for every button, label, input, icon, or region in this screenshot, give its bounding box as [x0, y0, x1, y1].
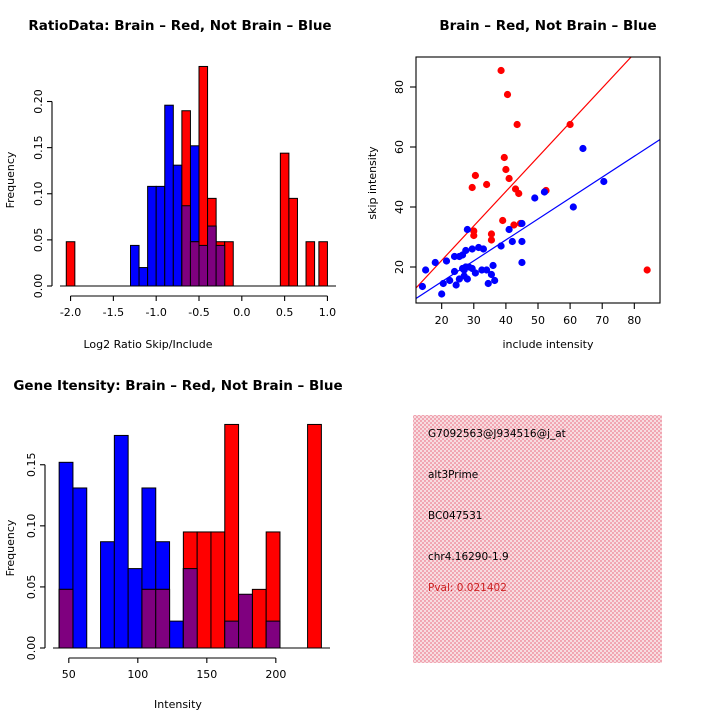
gene-xtick-label: 200 [265, 668, 286, 681]
ratio-bar-blue [165, 105, 174, 286]
gene-bar-overlap [239, 594, 253, 648]
scatter-point [567, 121, 574, 128]
info-line-locus: chr4.16290-1.9 [428, 551, 509, 563]
info-line-probe: G7092563@J934516@j_at [428, 428, 566, 440]
gene-bar-overlap [183, 569, 197, 648]
ratio-bar-red [319, 242, 328, 286]
intensity-scatter-panel: Brain – Red, Not Brain – Blue 2030405060… [360, 0, 720, 360]
info-line-event-type: alt3Prime [428, 469, 478, 481]
scatter-point [440, 280, 447, 287]
scatter-point [469, 184, 476, 191]
intensity-scatter-ylabel: skip intensity [366, 146, 379, 220]
scatter-point [419, 283, 426, 290]
scatter-xtick-label: 50 [531, 314, 545, 327]
scatter-point [485, 280, 492, 287]
scatter-point [497, 242, 504, 249]
scatter-xtick-label: 40 [499, 314, 513, 327]
scatter-point [514, 121, 521, 128]
ratio-histogram-title: RatioData: Brain – Red, Not Brain – Blue [28, 18, 331, 34]
gene-bar-blue [114, 435, 128, 648]
scatter-point [443, 257, 450, 264]
gene-ytick-label: 0.05 [25, 575, 38, 600]
scatter-point [489, 262, 496, 269]
scatter-ytick-label: 60 [393, 140, 406, 154]
gene-intensity-svg: Gene Itensity: Brain – Red, Not Brain – … [0, 360, 360, 720]
info-panel-background [413, 415, 662, 663]
scatter-point [579, 145, 586, 152]
scatter-point [438, 290, 445, 297]
scatter-point [464, 275, 471, 282]
scatter-box [416, 57, 660, 303]
scatter-point [504, 91, 511, 98]
ratio-ytick-label: 0.00 [32, 274, 45, 299]
ratio-ytick-label: 0.15 [32, 135, 45, 160]
gene-ytick-label: 0.10 [25, 514, 38, 539]
scatter-point [491, 277, 498, 284]
ratio-bar-blue [148, 186, 157, 286]
gene-intensity-panel: Gene Itensity: Brain – Red, Not Brain – … [0, 360, 360, 720]
ratio-bar-overlap [182, 206, 191, 286]
gene-intensity-bars [59, 424, 321, 648]
ratio-ytick-label: 0.05 [32, 228, 45, 253]
scatter-xtick-label: 20 [435, 314, 449, 327]
ratio-xtick-label: -1.5 [103, 306, 124, 319]
gene-intensity-xlabel: Intensity [154, 698, 202, 711]
scatter-point [453, 281, 460, 288]
ratio-xtick-label: 0.5 [276, 306, 294, 319]
gene-bar-overlap [156, 589, 170, 648]
scatter-point [518, 238, 525, 245]
gene-info-panel: G7092563@J934516@j_at alt3Prime BC047531… [360, 360, 720, 720]
gene-xtick-label: 150 [196, 668, 217, 681]
ratio-bar-blue [173, 165, 182, 286]
scatter-point [480, 245, 487, 252]
scatter-point [469, 245, 476, 252]
ratio-xtick-label: 0.0 [233, 306, 251, 319]
gene-bar-blue [170, 621, 184, 648]
scatter-fit-line [416, 140, 660, 299]
scatter-point [422, 266, 429, 273]
scatter-ytick-label: 80 [393, 80, 406, 94]
ratio-histogram-ylabel: Frequency [4, 151, 17, 208]
ratio-bar-red [66, 242, 75, 286]
scatter-point [506, 226, 513, 233]
intensity-scatter-xlabel: include intensity [502, 338, 594, 351]
scatter-point [531, 194, 538, 201]
scatter-point [470, 232, 477, 239]
ratio-histogram-panel: RatioData: Brain – Red, Not Brain – Blue… [0, 0, 360, 360]
scatter-point [502, 166, 509, 173]
ratio-bar-red [289, 198, 298, 286]
gene-bar-overlap [142, 589, 156, 648]
info-line-accession: BC047531 [428, 510, 482, 522]
scatter-point [570, 203, 577, 210]
ratio-histogram-bars [66, 66, 327, 286]
intensity-scatter-axes: 2030405060708020406080 [393, 57, 660, 327]
scatter-point [472, 269, 479, 276]
scatter-point [518, 220, 525, 227]
scatter-point [464, 226, 471, 233]
ratio-bar-blue [131, 245, 140, 286]
scatter-point [432, 259, 439, 266]
gene-bar-blue [73, 488, 87, 648]
ratio-xtick-label: -1.0 [145, 306, 166, 319]
ratio-histogram-svg: RatioData: Brain – Red, Not Brain – Blue… [0, 0, 360, 360]
scatter-point [451, 268, 458, 275]
gene-ytick-label: 0.00 [25, 636, 38, 661]
scatter-point [497, 67, 504, 74]
intensity-scatter-title: Brain – Red, Not Brain – Blue [439, 18, 656, 34]
gene-bar-blue [128, 569, 142, 648]
gene-bar-red [308, 424, 322, 648]
scatter-point [472, 172, 479, 179]
gene-info-svg: G7092563@J934516@j_at alt3Prime BC047531… [360, 360, 720, 720]
intensity-scatter-points [416, 57, 660, 299]
scatter-point [644, 266, 651, 273]
ratio-bar-blue [139, 268, 148, 286]
ratio-bar-overlap [190, 242, 199, 286]
scatter-point [509, 238, 516, 245]
ratio-bar-red [306, 242, 315, 286]
gene-bar-blue [101, 542, 115, 648]
scatter-ytick-label: 40 [393, 200, 406, 214]
gene-intensity-ylabel: Frequency [4, 519, 17, 576]
ratio-ytick-label: 0.10 [32, 182, 45, 207]
scatter-xtick-label: 30 [467, 314, 481, 327]
ratio-bar-overlap [216, 245, 225, 286]
scatter-point [600, 178, 607, 185]
gene-bar-red [197, 532, 211, 648]
scatter-point [541, 188, 548, 195]
scatter-point [518, 259, 525, 266]
gene-bar-overlap [225, 621, 239, 648]
gene-xtick-label: 50 [62, 668, 76, 681]
ratio-bar-red [280, 153, 289, 286]
ratio-bar-overlap [208, 226, 217, 286]
ratio-bar-red [225, 242, 234, 286]
gene-intensity-title: Gene Itensity: Brain – Red, Not Brain – … [13, 378, 342, 394]
ratio-ytick-label: 0.20 [32, 89, 45, 114]
intensity-scatter-svg: Brain – Red, Not Brain – Blue 2030405060… [360, 0, 720, 360]
ratio-bar-blue [156, 186, 165, 286]
ratio-histogram-xlabel: Log2 Ratio Skip/Include [83, 338, 212, 351]
scatter-point [501, 154, 508, 161]
scatter-point [483, 181, 490, 188]
scatter-point [499, 217, 506, 224]
scatter-point [488, 236, 495, 243]
gene-bar-red [211, 532, 225, 648]
ratio-xtick-label: -2.0 [60, 306, 81, 319]
scatter-ytick-label: 20 [393, 260, 406, 274]
scatter-fit-line [416, 57, 631, 288]
scatter-point [515, 190, 522, 197]
scatter-point [506, 175, 513, 182]
scatter-xtick-label: 70 [595, 314, 609, 327]
ratio-bar-overlap [199, 245, 208, 286]
gene-ytick-label: 0.15 [25, 453, 38, 478]
scatter-inner [416, 57, 660, 299]
scatter-xtick-label: 80 [627, 314, 641, 327]
scatter-point [451, 253, 458, 260]
scatter-point [446, 277, 453, 284]
gene-bar-red [252, 589, 266, 648]
scatter-xtick-label: 60 [563, 314, 577, 327]
gene-xtick-label: 100 [127, 668, 148, 681]
gene-bar-overlap [266, 621, 280, 648]
gene-bar-overlap [59, 589, 73, 648]
ratio-xtick-label: -0.5 [188, 306, 209, 319]
gene-bar-red [225, 424, 239, 648]
info-line-pval: Pval: 0.021402 [428, 582, 507, 594]
ratio-xtick-label: 1.0 [319, 306, 337, 319]
